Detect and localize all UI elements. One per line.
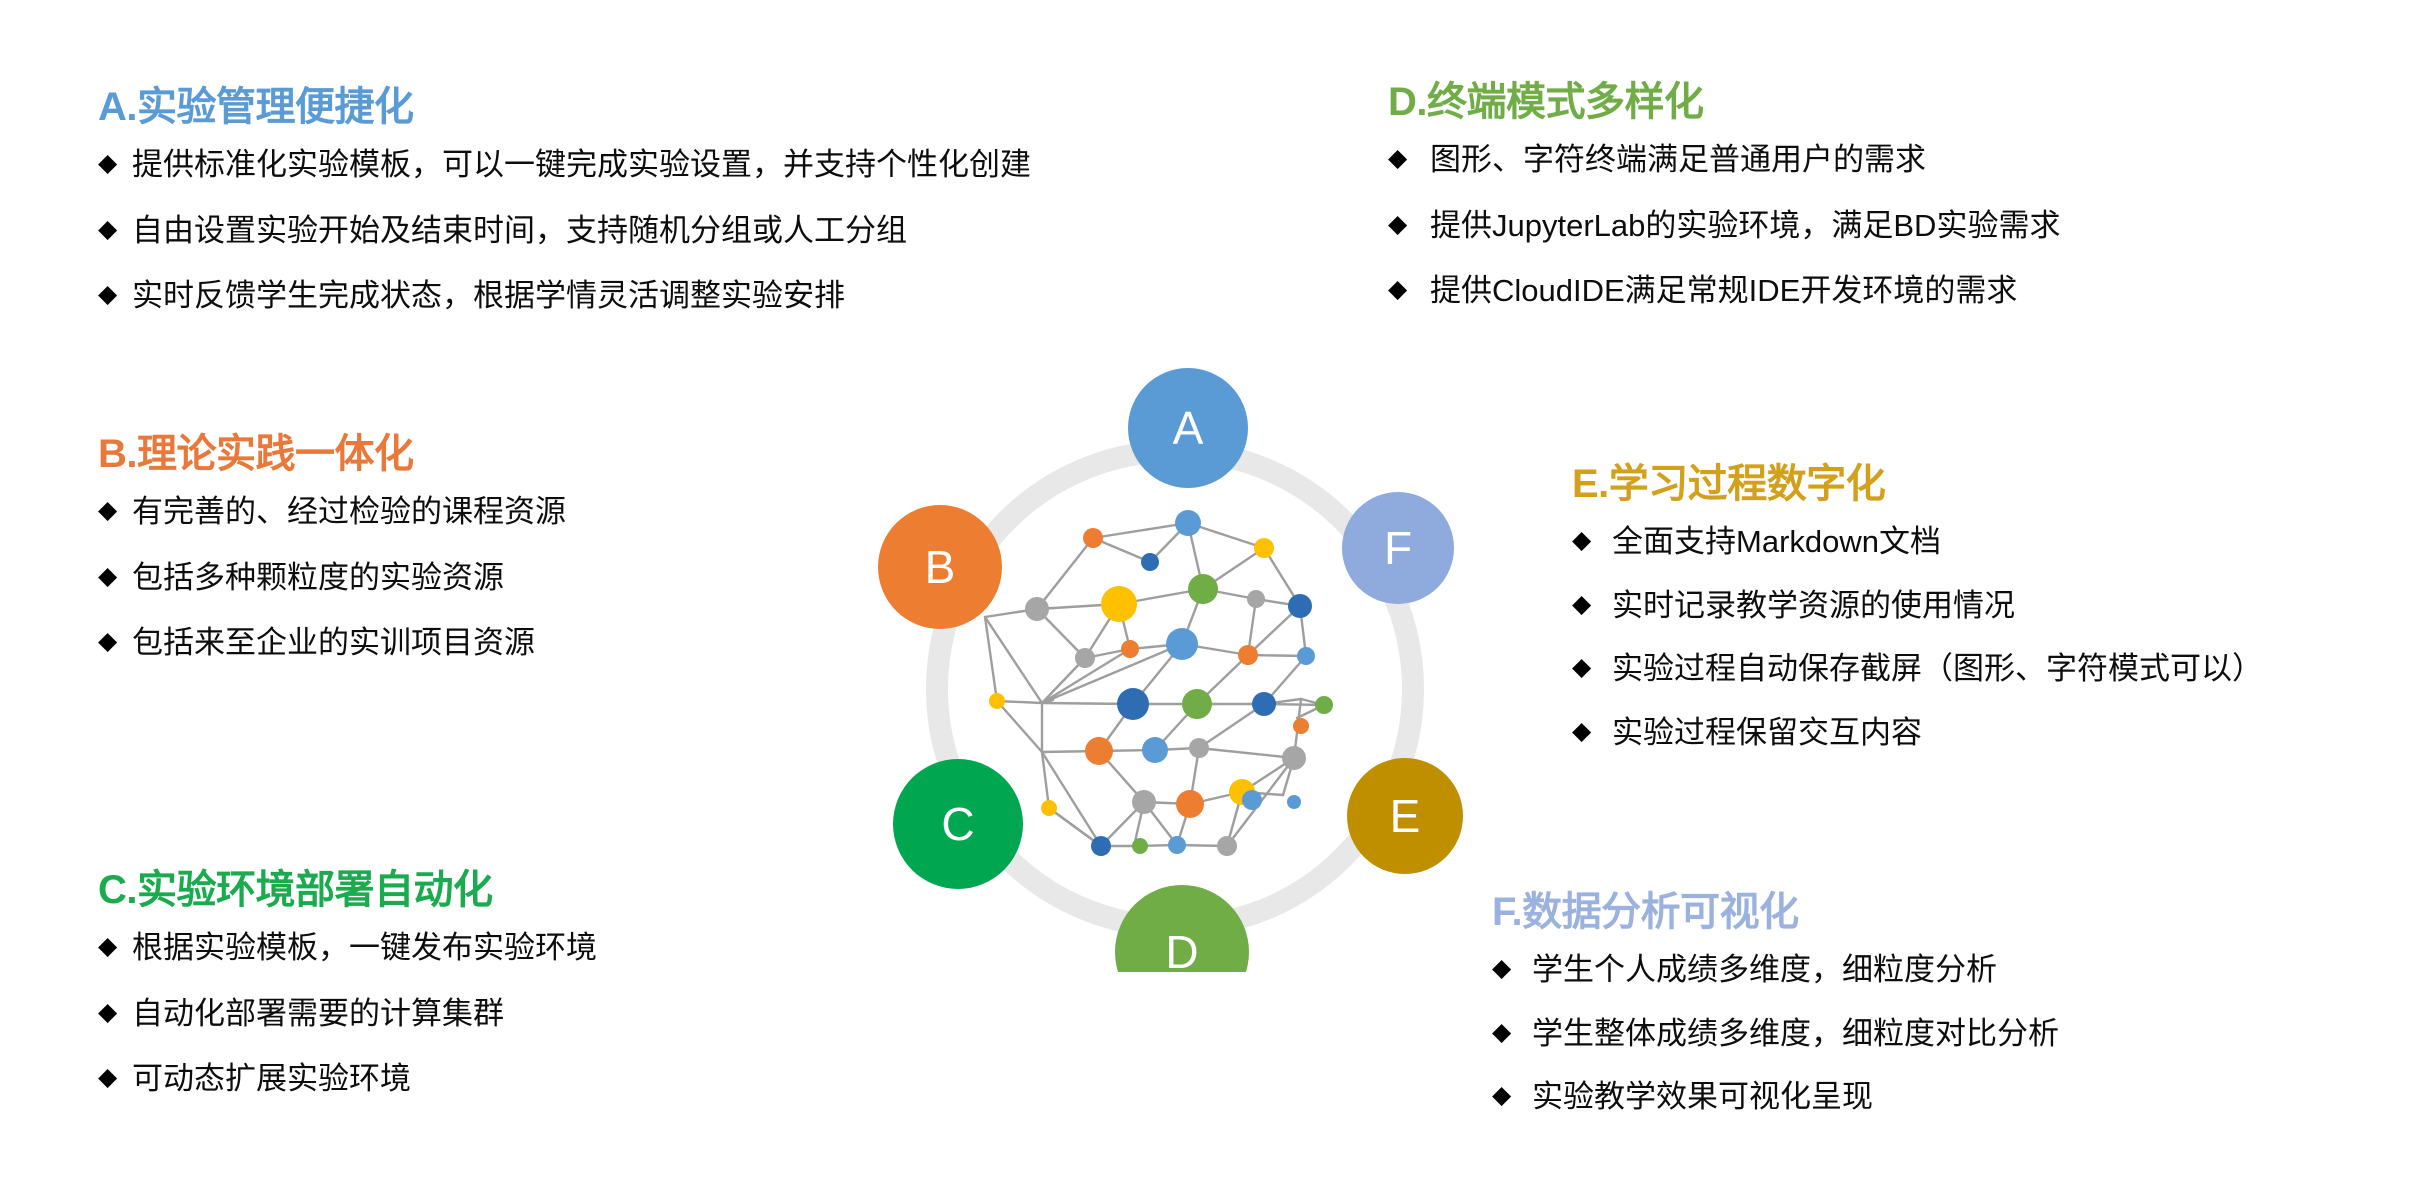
section-a: A.实验管理便捷化 ◆ 提供标准化实验模板，可以一键完成实验设置，并支持个性化创… — [98, 85, 1031, 342]
bullet-text: 自动化部署需要的计算集群 — [132, 994, 597, 1034]
hub-node-f[interactable]: F — [1342, 492, 1454, 604]
hub-node-e[interactable]: E — [1347, 758, 1463, 874]
list-item: ◆ 有完善的、经过检验的课程资源 — [98, 492, 566, 532]
list-item: ◆ 提供CloudIDE满足常规IDE开发环境的需求 — [1388, 271, 2060, 311]
list-item: ◆ 自由设置实验开始及结束时间，支持随机分组或人工分组 — [98, 211, 1031, 251]
list-item: ◆ 自动化部署需要的计算集群 — [98, 994, 597, 1034]
hub-node-d[interactable]: D — [1115, 885, 1249, 972]
section-b-title: B.理论实践一体化 — [98, 432, 566, 476]
bullet-text: 包括来至企业的实训项目资源 — [132, 623, 566, 663]
diamond-bullet-icon: ◆ — [1388, 140, 1430, 176]
central-hub-diagram: A B C D E — [872, 352, 1492, 972]
section-d: D.终端模式多样化 ◆ 图形、字符终端满足普通用户的需求 ◆ 提供Jupyter… — [1388, 80, 2060, 337]
hub-node-c-label: C — [941, 798, 974, 850]
section-f-bullets: ◆ 学生个人成绩多维度，细粒度分析 ◆ 学生整体成绩多维度，细粒度对比分析 ◆ … — [1492, 950, 2059, 1117]
section-e-title: E.学习过程数字化 — [1572, 462, 2263, 506]
hub-node-b-label: B — [925, 541, 956, 593]
bullet-text: 实验过程自动保存截屏（图形、字符模式可以） — [1612, 649, 2263, 689]
section-a-bullets: ◆ 提供标准化实验模板，可以一键完成实验设置，并支持个性化创建 ◆ 自由设置实验… — [98, 145, 1031, 316]
section-b: B.理论实践一体化 ◆ 有完善的、经过检验的课程资源 ◆ 包括多种颗粒度的实验资… — [98, 432, 566, 689]
bullet-text: 自由设置实验开始及结束时间，支持随机分组或人工分组 — [132, 211, 1031, 251]
list-item: ◆ 包括多种颗粒度的实验资源 — [98, 558, 566, 598]
list-item: ◆ 提供标准化实验模板，可以一键完成实验设置，并支持个性化创建 — [98, 145, 1031, 185]
hub-node-b[interactable]: B — [878, 505, 1002, 629]
bullet-text: 全面支持Markdown文档 — [1612, 522, 2263, 562]
diamond-bullet-icon: ◆ — [1572, 713, 1612, 749]
section-e-bullets: ◆ 全面支持Markdown文档 ◆ 实时记录教学资源的使用情况 ◆ 实验过程自… — [1572, 522, 2263, 753]
section-d-bullets: ◆ 图形、字符终端满足普通用户的需求 ◆ 提供JupyterLab的实验环境，满… — [1388, 140, 2060, 311]
diamond-bullet-icon: ◆ — [98, 211, 132, 247]
diamond-bullet-icon: ◆ — [98, 1059, 132, 1095]
hub-node-a-label: A — [1173, 402, 1204, 454]
bullet-text: 学生个人成绩多维度，细粒度分析 — [1532, 950, 2059, 990]
bullet-text: 有完善的、经过检验的课程资源 — [132, 492, 566, 532]
hub-node-e-label: E — [1390, 790, 1421, 842]
list-item: ◆ 实验过程自动保存截屏（图形、字符模式可以） — [1572, 649, 2263, 689]
list-item: ◆ 实时记录教学资源的使用情况 — [1572, 586, 2263, 626]
section-c: C.实验环境部署自动化 ◆ 根据实验模板，一键发布实验环境 ◆ 自动化部署需要的… — [98, 868, 597, 1125]
bullet-text: 图形、字符终端满足普通用户的需求 — [1430, 140, 2060, 180]
bullet-text: 实时记录教学资源的使用情况 — [1612, 586, 2263, 626]
list-item: ◆ 包括来至企业的实训项目资源 — [98, 623, 566, 663]
hub-node-f-label: F — [1384, 522, 1412, 574]
diamond-bullet-icon: ◆ — [98, 623, 132, 659]
section-e: E.学习过程数字化 ◆ 全面支持Markdown文档 ◆ 实时记录教学资源的使用… — [1572, 462, 2263, 777]
bullet-text: 实验过程保留交互内容 — [1612, 713, 2263, 753]
hub-node-c[interactable]: C — [893, 759, 1023, 889]
diamond-bullet-icon: ◆ — [1492, 950, 1532, 986]
bullet-text: 提供CloudIDE满足常规IDE开发环境的需求 — [1430, 271, 2060, 311]
bullet-text: 可动态扩展实验环境 — [132, 1059, 597, 1099]
bullet-text: 根据实验模板，一键发布实验环境 — [132, 928, 597, 968]
list-item: ◆ 全面支持Markdown文档 — [1572, 522, 2263, 562]
list-item: ◆ 可动态扩展实验环境 — [98, 1059, 597, 1099]
diamond-bullet-icon: ◆ — [98, 145, 132, 181]
bullet-text: 学生整体成绩多维度，细粒度对比分析 — [1532, 1014, 2059, 1054]
diamond-bullet-icon: ◆ — [1492, 1014, 1532, 1050]
list-item: ◆ 图形、字符终端满足普通用户的需求 — [1388, 140, 2060, 180]
diamond-bullet-icon: ◆ — [1388, 206, 1430, 242]
diamond-bullet-icon: ◆ — [1572, 649, 1612, 685]
diamond-bullet-icon: ◆ — [98, 492, 132, 528]
bullet-text: 包括多种颗粒度的实验资源 — [132, 558, 566, 598]
section-c-bullets: ◆ 根据实验模板，一键发布实验环境 ◆ 自动化部署需要的计算集群 ◆ 可动态扩展… — [98, 928, 597, 1099]
bullet-text: 实时反馈学生完成状态，根据学情灵活调整实验安排 — [132, 276, 1031, 316]
section-c-title: C.实验环境部署自动化 — [98, 868, 597, 912]
diamond-bullet-icon: ◆ — [98, 994, 132, 1030]
list-item: ◆ 实验教学效果可视化呈现 — [1492, 1077, 2059, 1117]
list-item: ◆ 学生个人成绩多维度，细粒度分析 — [1492, 950, 2059, 990]
bullet-text: 提供JupyterLab的实验环境，满足BD实验需求 — [1430, 206, 2060, 246]
bullet-text: 提供标准化实验模板，可以一键完成实验设置，并支持个性化创建 — [132, 145, 1031, 185]
list-item: ◆ 提供JupyterLab的实验环境，满足BD实验需求 — [1388, 206, 2060, 246]
bullet-text: 实验教学效果可视化呈现 — [1532, 1077, 2059, 1117]
hub-letter-circles: A B C D E — [878, 368, 1463, 972]
diamond-bullet-icon: ◆ — [1572, 522, 1612, 558]
diamond-bullet-icon: ◆ — [1572, 586, 1612, 622]
list-item: ◆ 根据实验模板，一键发布实验环境 — [98, 928, 597, 968]
list-item: ◆ 实验过程保留交互内容 — [1572, 713, 2263, 753]
list-item: ◆ 学生整体成绩多维度，细粒度对比分析 — [1492, 1014, 2059, 1054]
section-a-title: A.实验管理便捷化 — [98, 85, 1031, 129]
diamond-bullet-icon: ◆ — [98, 558, 132, 594]
diamond-bullet-icon: ◆ — [1492, 1077, 1532, 1113]
list-item: ◆ 实时反馈学生完成状态，根据学情灵活调整实验安排 — [98, 276, 1031, 316]
hub-node-a[interactable]: A — [1128, 368, 1248, 488]
diamond-bullet-icon: ◆ — [98, 276, 132, 312]
diamond-bullet-icon: ◆ — [98, 928, 132, 964]
hub-node-d-label: D — [1165, 926, 1198, 972]
section-d-title: D.终端模式多样化 — [1388, 80, 2060, 124]
section-f: F.数据分析可视化 ◆ 学生个人成绩多维度，细粒度分析 ◆ 学生整体成绩多维度，… — [1492, 890, 2059, 1141]
section-b-bullets: ◆ 有完善的、经过检验的课程资源 ◆ 包括多种颗粒度的实验资源 ◆ 包括来至企业… — [98, 492, 566, 663]
section-f-title: F.数据分析可视化 — [1492, 890, 2059, 934]
infographic-canvas: A.实验管理便捷化 ◆ 提供标准化实验模板，可以一键完成实验设置，并支持个性化创… — [0, 0, 2423, 1180]
diamond-bullet-icon: ◆ — [1388, 271, 1430, 307]
